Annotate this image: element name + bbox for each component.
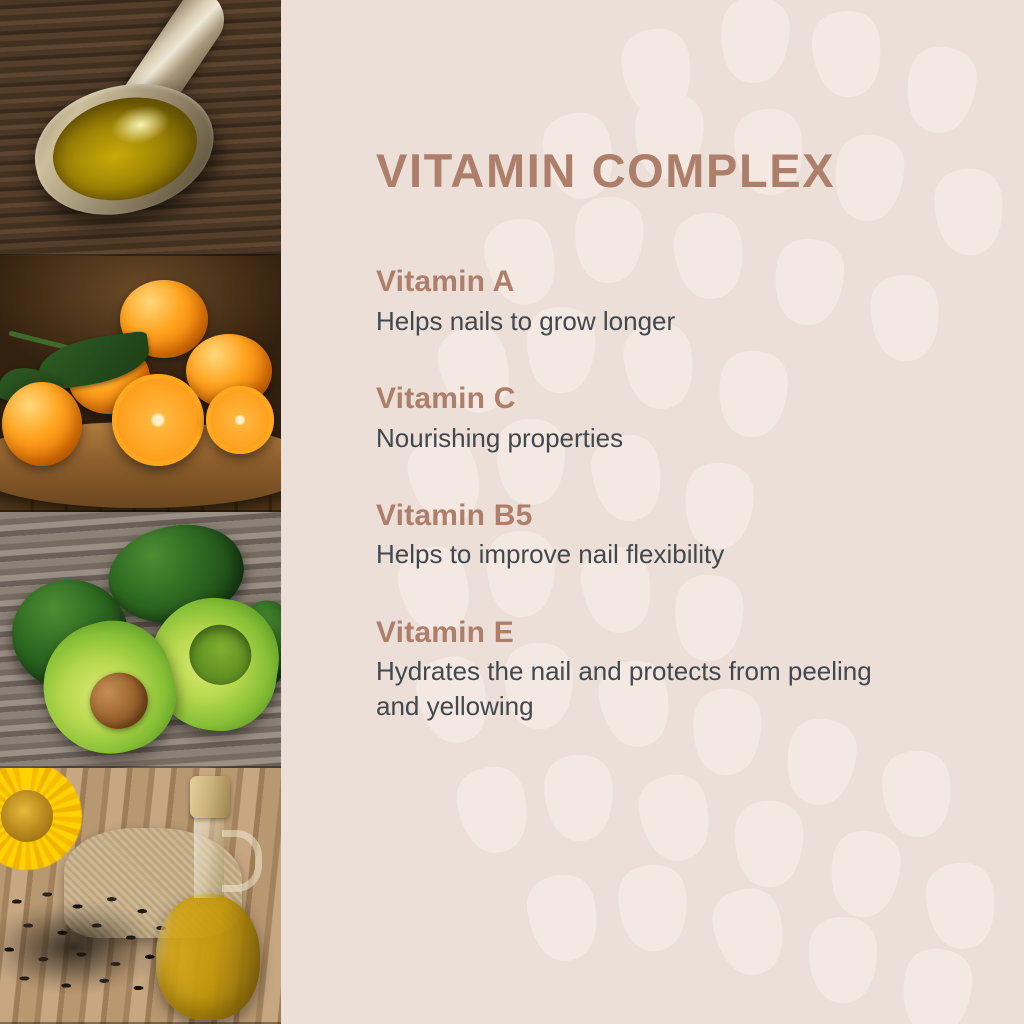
orange-fruit-shape (2, 382, 82, 466)
page-title: VITAMIN COMPLEX (376, 143, 835, 198)
vitamin-description: Helps nails to grow longer (376, 304, 896, 338)
vitamin-name: Vitamin A (376, 265, 936, 299)
carafe-handle-shape (222, 830, 262, 892)
photo-oranges: oranges-whole-and-halved-on-wooden-board (0, 256, 281, 512)
oil-carafe-shape (150, 776, 266, 1020)
avocado-cavity-shape (186, 621, 256, 689)
photo-sunflower-oil: sunflower-oil-carafe-with-seeds-and-sunf… (0, 768, 281, 1024)
vitamin-description: Helps to improve nail flexibility (376, 537, 896, 571)
orange-rind-shape (112, 374, 204, 466)
photo-strip: spoon-of-golden-oil-on-dark-wood oranges… (0, 0, 281, 1024)
content-column: VITAMIN COMPLEX Vitamin A Helps nails to… (281, 0, 1024, 1024)
vitamin-list: Vitamin A Helps nails to grow longer Vit… (376, 265, 936, 723)
vitamin-complex-poster: spoon-of-golden-oil-on-dark-wood oranges… (0, 0, 1024, 1024)
photo-oil-spoon: spoon-of-golden-oil-on-dark-wood (0, 0, 281, 256)
orange-half-shape (112, 374, 204, 466)
avocado-pit-shape (83, 666, 154, 736)
orange-rind-shape (206, 386, 274, 454)
vitamin-description: Hydrates the nail and protects from peel… (376, 654, 896, 723)
sunflower-center-shape (1, 790, 54, 842)
orange-half-shape (206, 386, 274, 454)
spoon-bowl-shape (22, 67, 227, 230)
photo-avocados: avocados-whole-and-halved-on-grey-wood (0, 512, 281, 768)
vitamin-name: Vitamin B5 (376, 499, 936, 533)
list-item: Vitamin C Nourishing properties (376, 382, 936, 455)
vitamin-name: Vitamin C (376, 382, 936, 416)
list-item: Vitamin E Hydrates the nail and protects… (376, 616, 936, 723)
carafe-body-shape (156, 894, 260, 1020)
oil-in-spoon-shape (43, 84, 208, 214)
vitamin-name: Vitamin E (376, 616, 936, 650)
vitamin-description: Nourishing properties (376, 421, 896, 455)
list-item: Vitamin A Helps nails to grow longer (376, 265, 936, 338)
carafe-cork-shape (190, 776, 230, 818)
list-item: Vitamin B5 Helps to improve nail flexibi… (376, 499, 936, 572)
